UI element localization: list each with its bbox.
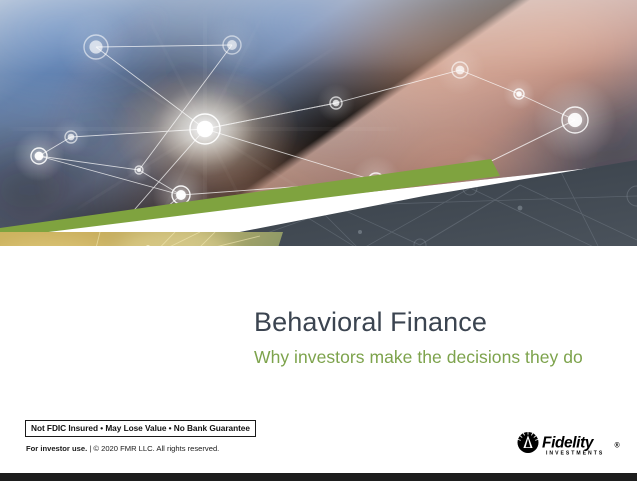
disclosure-box: Not FDIC Insured • May Lose Value • No B… <box>25 420 256 437</box>
presentation-slide: Behavioral Finance Why investors make th… <box>0 0 637 481</box>
legal-copyright: | © 2020 FMR LLC. All rights reserved. <box>89 444 219 453</box>
registered-mark: ® <box>615 442 621 450</box>
fidelity-wordmark: Fidelity <box>542 435 595 452</box>
bottom-bar <box>0 473 637 481</box>
page-subtitle: Why investors make the decisions they do <box>254 346 614 368</box>
fidelity-investments-logo: Fidelity ® INVESTMENTS <box>516 431 621 457</box>
fidelity-pyramid-icon <box>518 432 539 453</box>
fidelity-tagline: INVESTMENTS <box>546 451 604 457</box>
legal-line: For investor use. | © 2020 FMR LLC. All … <box>26 444 219 454</box>
hero-artwork <box>0 0 637 246</box>
title-block: Behavioral Finance Why investors make th… <box>254 306 614 368</box>
hero-banner-image <box>0 0 637 246</box>
page-title: Behavioral Finance <box>254 306 614 338</box>
disclosure-text: Not FDIC Insured • May Lose Value • No B… <box>31 423 250 433</box>
legal-usage-label: For investor use. <box>26 444 87 453</box>
